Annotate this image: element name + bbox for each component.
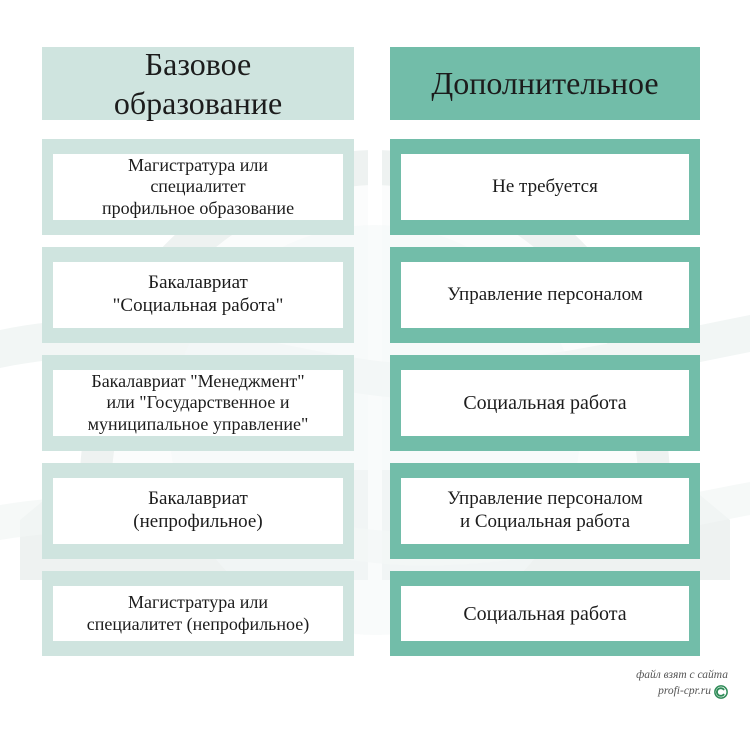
additional-education-cell-1: Не требуется bbox=[401, 154, 689, 220]
base-education-cell-2-label: Бакалавриат "Социальная работа" bbox=[113, 272, 284, 318]
base-education-cell-2: Бакалавриат "Социальная работа" bbox=[53, 262, 343, 328]
source-watermark-line2-row: profi-cpr.ru bbox=[636, 684, 728, 700]
c-circle-logo-icon bbox=[714, 685, 728, 699]
additional-education-cell-2-label: Управление персоналом bbox=[447, 284, 642, 307]
base-education-cell-3-label: Бакалавриат "Менеджмент" или "Государств… bbox=[88, 371, 309, 436]
source-watermark-line1: файл взят с сайта bbox=[636, 668, 728, 684]
additional-education-cell-1-label: Не требуется bbox=[492, 176, 598, 199]
table-row: Бакалавриат "Социальная работа" bbox=[42, 247, 354, 343]
column-header-base-education-label: Базовое образование bbox=[114, 45, 282, 122]
table-row: Не требуется bbox=[390, 139, 700, 235]
additional-education-cell-3: Социальная работа bbox=[401, 370, 689, 436]
education-requirements-table: Базовое образование Дополнительное Магис… bbox=[0, 0, 750, 750]
table-row: Бакалавриат (непрофильное) bbox=[42, 463, 354, 559]
additional-education-cell-4-label: Управление персоналом и Социальная работ… bbox=[447, 488, 642, 534]
base-education-cell-1: Магистратура или специалитет профильное … bbox=[53, 154, 343, 220]
base-education-cell-4: Бакалавриат (непрофильное) bbox=[53, 478, 343, 544]
source-watermark-url: profi-cpr.ru bbox=[658, 684, 711, 700]
table-row: Управление персоналом bbox=[390, 247, 700, 343]
base-education-cell-3: Бакалавриат "Менеджмент" или "Государств… bbox=[53, 370, 343, 436]
column-header-additional-education-label: Дополнительное bbox=[431, 64, 658, 102]
additional-education-cell-4: Управление персоналом и Социальная работ… bbox=[401, 478, 689, 544]
column-header-base-education: Базовое образование bbox=[42, 47, 354, 120]
base-education-cell-5-label: Магистратура или специалитет (непрофильн… bbox=[87, 592, 309, 635]
source-watermark: файл взят с сайта profi-cpr.ru bbox=[636, 668, 728, 699]
additional-education-cell-3-label: Социальная работа bbox=[463, 391, 626, 415]
table-row: Социальная работа bbox=[390, 355, 700, 451]
table-row: Магистратура или специалитет профильное … bbox=[42, 139, 354, 235]
table-row: Магистратура или специалитет (непрофильн… bbox=[42, 571, 354, 656]
base-education-cell-5: Магистратура или специалитет (непрофильн… bbox=[53, 586, 343, 641]
table-row: Бакалавриат "Менеджмент" или "Государств… bbox=[42, 355, 354, 451]
table-row: Социальная работа bbox=[390, 571, 700, 656]
base-education-cell-4-label: Бакалавриат (непрофильное) bbox=[133, 488, 262, 534]
additional-education-cell-5: Социальная работа bbox=[401, 586, 689, 641]
base-education-cell-1-label: Магистратура или специалитет профильное … bbox=[102, 155, 294, 220]
column-header-additional-education: Дополнительное bbox=[390, 47, 700, 120]
additional-education-cell-5-label: Социальная работа bbox=[463, 602, 626, 626]
table-row: Управление персоналом и Социальная работ… bbox=[390, 463, 700, 559]
additional-education-cell-2: Управление персоналом bbox=[401, 262, 689, 328]
